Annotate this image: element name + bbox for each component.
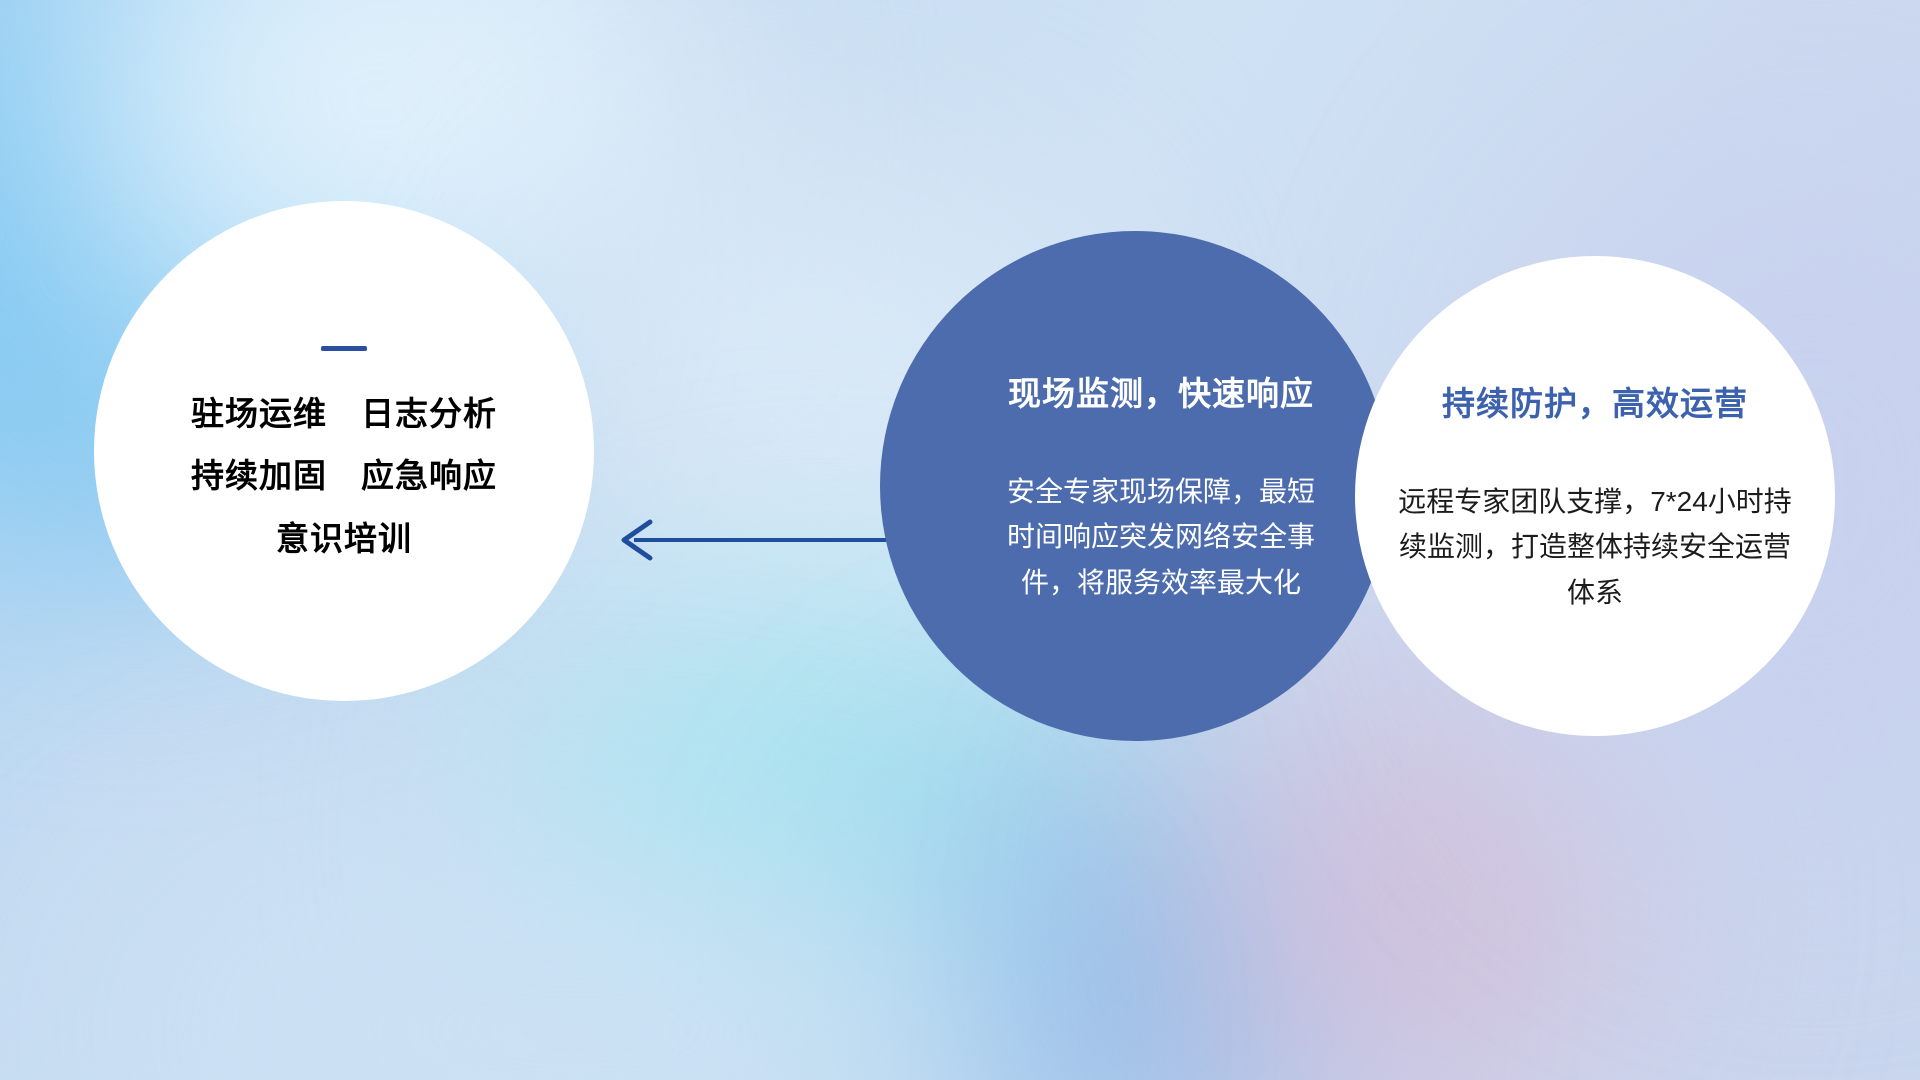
capabilities-line-2: 持续加固 应急响应 — [191, 459, 497, 494]
onsite-monitoring-circle[interactable]: 现场监测，快速响应 安全专家现场保障，最短时间响应突发网络安全事件，将服务效率最… — [880, 231, 1390, 741]
connector-arrow-left-icon — [600, 510, 900, 570]
slide-canvas: 驻场运维 日志分析 持续加固 应急响应 意识培训 现场监测，快速响应 安全专家现… — [0, 0, 1920, 1080]
capabilities-list: 驻场运维 日志分析 持续加固 应急响应 意识培训 — [191, 397, 497, 557]
capabilities-line-1: 驻场运维 日志分析 — [191, 397, 497, 432]
capabilities-circle[interactable]: 驻场运维 日志分析 持续加固 应急响应 意识培训 — [94, 201, 594, 701]
continuous-protection-title: 持续防护，高效运营 — [1442, 377, 1748, 425]
continuous-protection-body: 远程专家团队支撑，7*24小时持续监测，打造整体持续安全运营体系 — [1395, 479, 1795, 615]
onsite-monitoring-title: 现场监测，快速响应 — [1008, 367, 1314, 415]
capabilities-line-3: 意识培训 — [276, 522, 412, 557]
continuous-protection-content: 持续防护，高效运营 远程专家团队支撑，7*24小时持续监测，打造整体持续安全运营… — [1355, 256, 1835, 736]
title-divider — [321, 346, 367, 351]
onsite-monitoring-body: 安全专家现场保障，最短时间响应突发网络安全事件，将服务效率最大化 — [996, 469, 1326, 605]
capabilities-circle-content: 驻场运维 日志分析 持续加固 应急响应 意识培训 — [94, 201, 594, 701]
onsite-monitoring-content: 现场监测，快速响应 安全专家现场保障，最短时间响应突发网络安全事件，将服务效率最… — [880, 231, 1390, 741]
continuous-protection-circle[interactable]: 持续防护，高效运营 远程专家团队支撑，7*24小时持续监测，打造整体持续安全运营… — [1355, 256, 1835, 736]
